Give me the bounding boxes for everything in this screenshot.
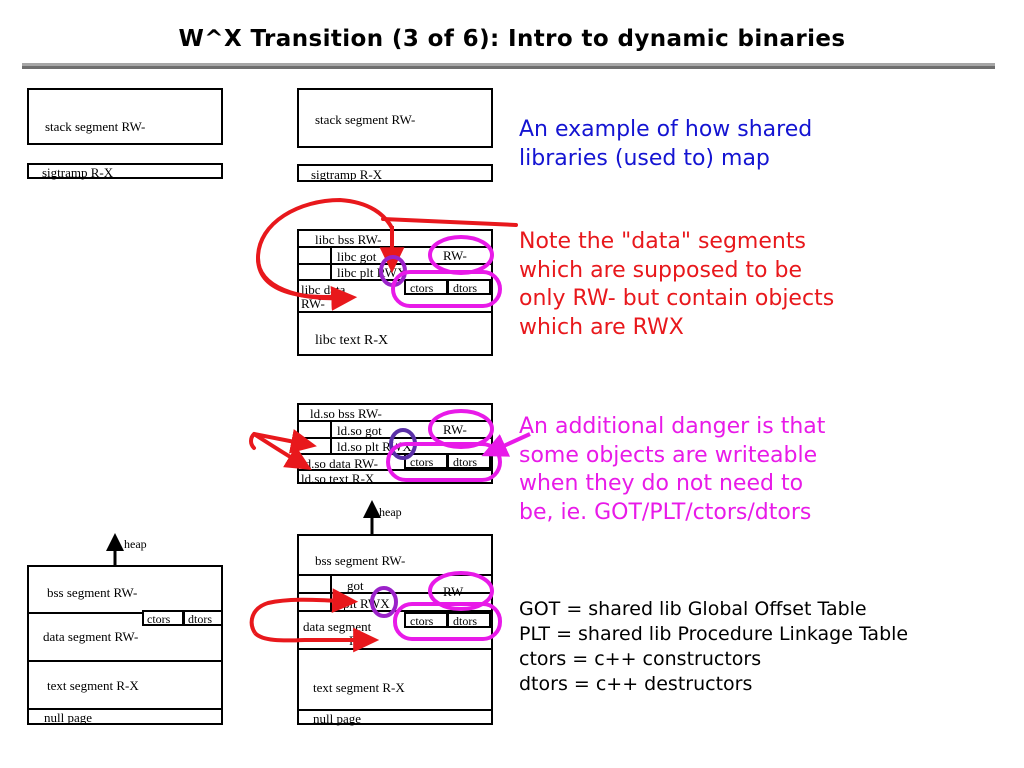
libc-got-label: libc got: [337, 250, 376, 263]
note-writeable-warning: An additional danger is that some object…: [519, 413, 999, 527]
static-sigtramp-label: sigtramp R-X: [42, 166, 113, 179]
static-data-text-divider: [27, 660, 223, 662]
static-heap-label: heap: [124, 538, 147, 550]
title-divider: [22, 63, 995, 67]
ldso-text-label: ld.so text R-X: [301, 472, 374, 485]
static-text-label: text segment R-X: [47, 679, 139, 692]
prog-data-label-line1: data segment: [303, 620, 371, 633]
prog-dtors-label: dtors: [453, 615, 477, 627]
prog-rw-oval-label: RW-: [443, 585, 467, 598]
prog-got-label: got: [347, 579, 364, 592]
libc-text-label: libc text R-X: [315, 334, 388, 348]
libc-rw-oval-label: RW-: [443, 249, 467, 262]
ldso-bss-label: ld.so bss RW-: [310, 407, 382, 420]
ldso-ctors-label: ctors: [410, 456, 433, 468]
static-bss-label: bss segment RW-: [47, 586, 137, 599]
libc-inner-left-rule: [330, 246, 332, 279]
libc-ctors-label: ctors: [410, 282, 433, 294]
ldso-red-fork-arrows: [251, 434, 300, 461]
prog-data-bottom: [297, 648, 493, 650]
dyn-heap-label: heap: [379, 506, 402, 518]
ldso-data-label: ld.so data RW-: [301, 457, 378, 470]
slide-canvas: W^X Transition (3 of 6): Intro to dynami…: [0, 0, 1024, 768]
page-title: W^X Transition (3 of 6): Intro to dynami…: [0, 26, 1024, 52]
static-stack-label: stack segment RW-: [45, 120, 145, 133]
prog-bss-label: bss segment RW-: [315, 554, 405, 567]
static-stack-box: [27, 88, 223, 145]
libc-dtors-label: dtors: [453, 282, 477, 294]
libc-data-bottom: [297, 311, 493, 313]
note-legend: GOT = shared lib Global Offset Table PLT…: [519, 597, 999, 697]
note-intro: An example of how shared libraries (used…: [519, 116, 979, 173]
static-ctors-label: ctors: [147, 613, 170, 625]
libc-bss-label: libc bss RW-: [315, 233, 381, 246]
static-nullpage-label: null page: [44, 711, 92, 724]
note-data-warning: Note the "data" segments which are suppo…: [519, 228, 999, 342]
ldso-inner-left-rule: [330, 420, 332, 453]
ldso-dtors-label: dtors: [453, 456, 477, 468]
ldso-plt-label: ld.so plt RWX: [337, 440, 412, 453]
prog-data-label-line2: RW-: [349, 634, 373, 647]
dyn-stack-label: stack segment RW-: [315, 113, 415, 126]
prog-inner-left-rule: [330, 574, 332, 610]
ldso-got-label: ld.so got: [337, 424, 382, 437]
prog-text-label: text segment R-X: [313, 681, 405, 694]
prog-bss-bottom: [297, 574, 493, 576]
prog-nullpage-label: null page: [313, 712, 361, 725]
libc-plt-label: libc plt RWX: [337, 266, 406, 279]
prog-ctors-label: ctors: [410, 615, 433, 627]
dyn-sigtramp-label: sigtramp R-X: [311, 168, 382, 181]
ldso-rw-oval-label: RW-: [443, 423, 467, 436]
libc-data-label-line2: RW-: [301, 297, 325, 310]
static-dtors-label: dtors: [188, 613, 212, 625]
prog-plt-label: plt RWX: [343, 597, 390, 610]
libc-data-label-line1: libc data: [301, 283, 345, 296]
static-data-label: data segment RW-: [43, 630, 138, 643]
